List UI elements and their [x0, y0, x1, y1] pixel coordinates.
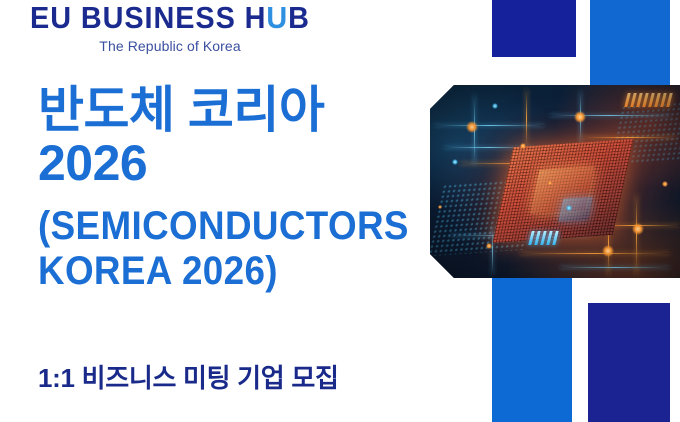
- subline-text: 1:1 비즈니스 미팅 기업 모집: [38, 358, 339, 395]
- logo-tagline: The Republic of Korea: [0, 38, 340, 54]
- logo-wordmark-u: U: [266, 0, 288, 35]
- headline-english-line1: (SEMICONDUCTORS: [38, 204, 406, 249]
- decor-navy-rect-bottom: [588, 303, 670, 422]
- decor-blue-rect-top: [590, 0, 670, 85]
- logo-wordmark: EU BUSINESS HUB: [12, 2, 328, 34]
- headline-korean-line2: 2026: [38, 137, 438, 190]
- headline-english-line2: KOREA 2026): [38, 249, 406, 294]
- decor-navy-square-top: [492, 0, 576, 57]
- headline-korean-line1: 반도체 코리아: [38, 84, 438, 137]
- logo-wordmark-suffix: B: [288, 0, 310, 35]
- circuit-board-image: [430, 85, 680, 278]
- headline-english-block: (SEMICONDUCTORS KOREA 2026): [38, 204, 438, 294]
- decor-blue-rect-bottom: [492, 278, 572, 422]
- logo-wordmark-prefix: EU BUSINESS H: [30, 0, 266, 35]
- photo-vignette: [430, 85, 680, 278]
- headline-block: 반도체 코리아 2026 (SEMICONDUCTORS KOREA 2026): [38, 84, 438, 294]
- brand-lockup: EU BUSINESS HUB The Republic of Korea: [0, 2, 340, 54]
- promo-poster: EU BUSINESS HUB The Republic of Korea 반도…: [0, 0, 680, 422]
